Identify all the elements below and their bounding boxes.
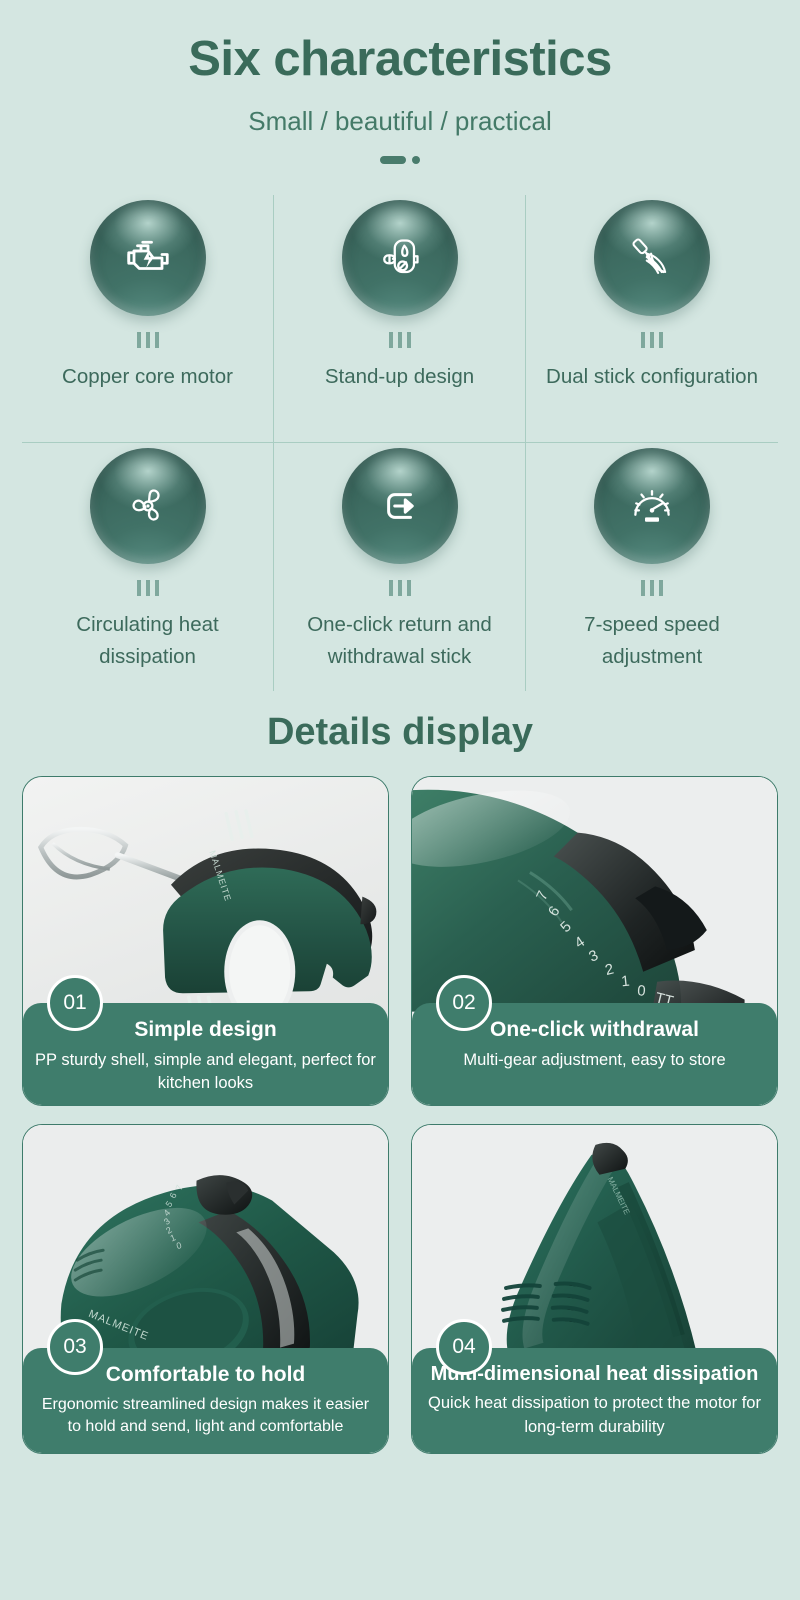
detail-card-01[interactable]: MALMEITE 01 Simple design PP sturdy shel… xyxy=(22,776,389,1106)
feature-item-7-speed-adjustment: 7-speed speed adjustment xyxy=(526,443,778,691)
feature-item-circulating-heat-dissipation: Circulating heat dissipation xyxy=(22,443,274,691)
page-title: Six characteristics xyxy=(0,34,800,85)
svg-text:1: 1 xyxy=(621,974,631,991)
detail-card-02[interactable]: 7 6 5 4 3 2 1 0 TT xyxy=(411,776,778,1106)
bars-ornament xyxy=(641,579,663,596)
feature-label: Circulating heat dissipation xyxy=(33,609,263,673)
feature-item-stand-up-design: Stand-up design xyxy=(274,195,526,443)
feature-grid: Copper core motor Stand-up design xyxy=(22,195,778,691)
card-subtitle: Ergonomic streamlined design makes it ea… xyxy=(35,1394,376,1439)
bars-ornament xyxy=(389,331,411,348)
details-card-grid: MALMEITE 01 Simple design PP sturdy shel… xyxy=(22,776,778,1454)
feature-label: Stand-up design xyxy=(325,361,474,393)
feature-label: 7-speed speed adjustment xyxy=(537,609,767,673)
svg-text:0: 0 xyxy=(637,984,646,1001)
whisk-icon xyxy=(594,200,710,316)
feature-label: One-click return and withdrawal stick xyxy=(285,609,515,673)
feature-label: Dual stick configuration xyxy=(546,361,758,393)
stand-mixer-icon xyxy=(342,200,458,316)
bars-ornament xyxy=(389,579,411,596)
bars-ornament xyxy=(137,331,159,348)
page-subtitle: Small / beautiful / practical xyxy=(0,106,800,137)
card-subtitle: Quick heat dissipation to protect the mo… xyxy=(424,1392,765,1439)
fan-propeller-icon xyxy=(90,448,206,564)
speedometer-icon xyxy=(594,448,710,564)
detail-card-03[interactable]: 7 6 5 4 3 2 1 0 xyxy=(22,1124,389,1454)
card-subtitle: Multi-gear adjustment, easy to store xyxy=(424,1049,765,1072)
details-section-heading: Details display xyxy=(0,711,800,754)
feature-item-one-click-return: One-click return and withdrawal stick xyxy=(274,443,526,691)
engine-motor-icon xyxy=(90,200,206,316)
header: Six characteristics Small / beautiful / … xyxy=(0,0,800,165)
bars-ornament xyxy=(137,579,159,596)
detail-card-04[interactable]: MALMEITE 04 Multi-dimensional heat dissi… xyxy=(411,1124,778,1454)
card-subtitle: PP sturdy shell, simple and elegant, per… xyxy=(35,1049,376,1096)
feature-item-copper-core-motor: Copper core motor xyxy=(22,195,274,443)
bars-ornament xyxy=(641,331,663,348)
infographic-page: Six characteristics Small / beautiful / … xyxy=(0,0,800,1600)
eject-arrow-icon xyxy=(342,448,458,564)
dash-shape xyxy=(380,156,406,164)
divider-ornament xyxy=(373,155,427,165)
dot-shape xyxy=(412,156,420,164)
feature-label: Copper core motor xyxy=(62,361,233,393)
feature-item-dual-stick-configuration: Dual stick configuration xyxy=(526,195,778,443)
